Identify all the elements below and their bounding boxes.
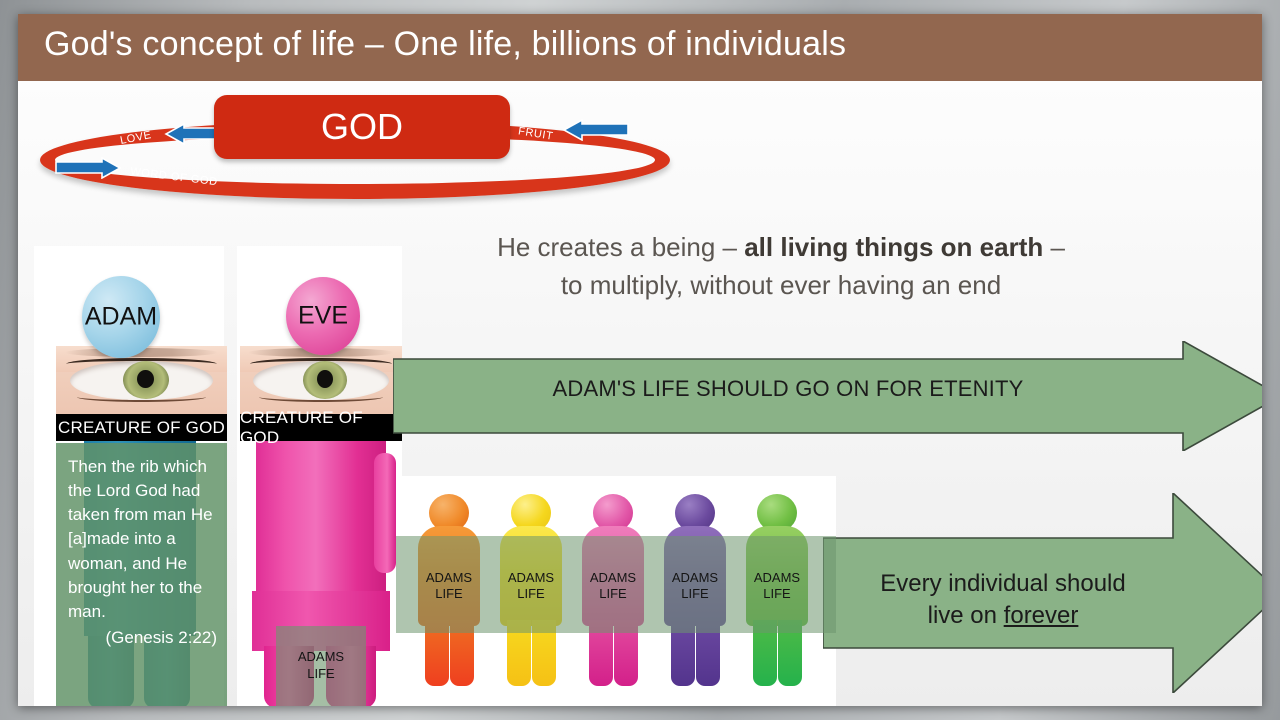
eyelash-top (66, 358, 216, 370)
figure-leg-left (671, 620, 695, 686)
eve-torso (256, 441, 386, 601)
eve-eye-image (240, 346, 402, 414)
figure-body (500, 526, 562, 626)
figure-leg-left (425, 620, 449, 686)
figure-pink (582, 494, 644, 686)
eve-life-line2: LIFE (276, 666, 366, 683)
headline-line-2: to multiply, without ever having an end (426, 267, 1136, 305)
forever-underlined: forever (1004, 602, 1079, 629)
adam-caption-bar: CREATURE OF GOD (56, 414, 227, 441)
forever-line-2: live on forever (823, 600, 1183, 632)
figure-purple (664, 494, 726, 686)
forever-line-1: Every individual should (823, 568, 1183, 600)
god-label: GOD (214, 95, 510, 159)
adam-name-label: ADAM (82, 303, 160, 332)
god-diagram: LOVE FRUIT WORD OF GOD GOD (34, 95, 684, 205)
headline-line-1: He creates a being – all living things o… (426, 229, 1136, 267)
eve-name-label: EVE (286, 302, 360, 331)
eve-arm (374, 453, 396, 573)
figure-leg-right (450, 620, 474, 686)
genesis-quote-text: Then the rib which the Lord God had take… (68, 457, 213, 621)
figure-green (746, 494, 808, 686)
eve-life-line1: ADAMS (276, 649, 366, 666)
figure-orange (418, 494, 480, 686)
adam-head-bubble: ADAM (82, 276, 160, 358)
headline-post: – (1043, 232, 1065, 262)
figure-leg-left (589, 620, 613, 686)
figure-leg-right (532, 620, 556, 686)
eve-adams-life-label: ADAMS LIFE (276, 649, 366, 683)
figure-body (664, 526, 726, 626)
figure-leg-right (614, 620, 638, 686)
figures-panel (396, 476, 836, 706)
figure-body (582, 526, 644, 626)
figure-leg-left (507, 620, 531, 686)
slide: God's concept of life – One life, billio… (18, 14, 1262, 706)
figure-leg-right (696, 620, 720, 686)
arrow-banner-eternity-label: ADAM'S LIFE SHOULD GO ON FOR ETENITY (393, 376, 1183, 402)
word-of-god-arrow-icon (54, 157, 122, 179)
figure-body (746, 526, 808, 626)
eve-head-bubble: EVE (286, 277, 360, 355)
headline-text: He creates a being – all living things o… (426, 229, 1136, 304)
headline-bold: all living things on earth (744, 232, 1043, 262)
figure-yellow (500, 494, 562, 686)
forever-pre: live on (928, 602, 1004, 629)
headline-pre: He creates a being – (497, 232, 744, 262)
genesis-quote-reference: (Genesis 2:22) (68, 626, 217, 650)
eyelash-bottom (259, 392, 382, 402)
god-box: GOD (214, 95, 510, 159)
adam-eye-image (56, 346, 227, 414)
slide-canvas: LOVE FRUIT WORD OF GOD GOD (18, 81, 1262, 706)
eve-caption-bar: CREATURE OF GOD (240, 414, 402, 441)
genesis-quote-box: Then the rib which the Lord God had take… (56, 443, 227, 706)
figure-body (418, 526, 480, 626)
eyelash-top (250, 358, 393, 370)
figure-leg-right (778, 620, 802, 686)
fruit-arrow-icon (562, 119, 630, 141)
figure-leg-left (753, 620, 777, 686)
arrow-banner-forever-label: Every individual should live on forever (823, 568, 1183, 633)
title-bar: God's concept of life – One life, billio… (18, 14, 1262, 81)
page-title: God's concept of life – One life, billio… (44, 25, 846, 64)
eyelash-bottom (77, 392, 207, 402)
